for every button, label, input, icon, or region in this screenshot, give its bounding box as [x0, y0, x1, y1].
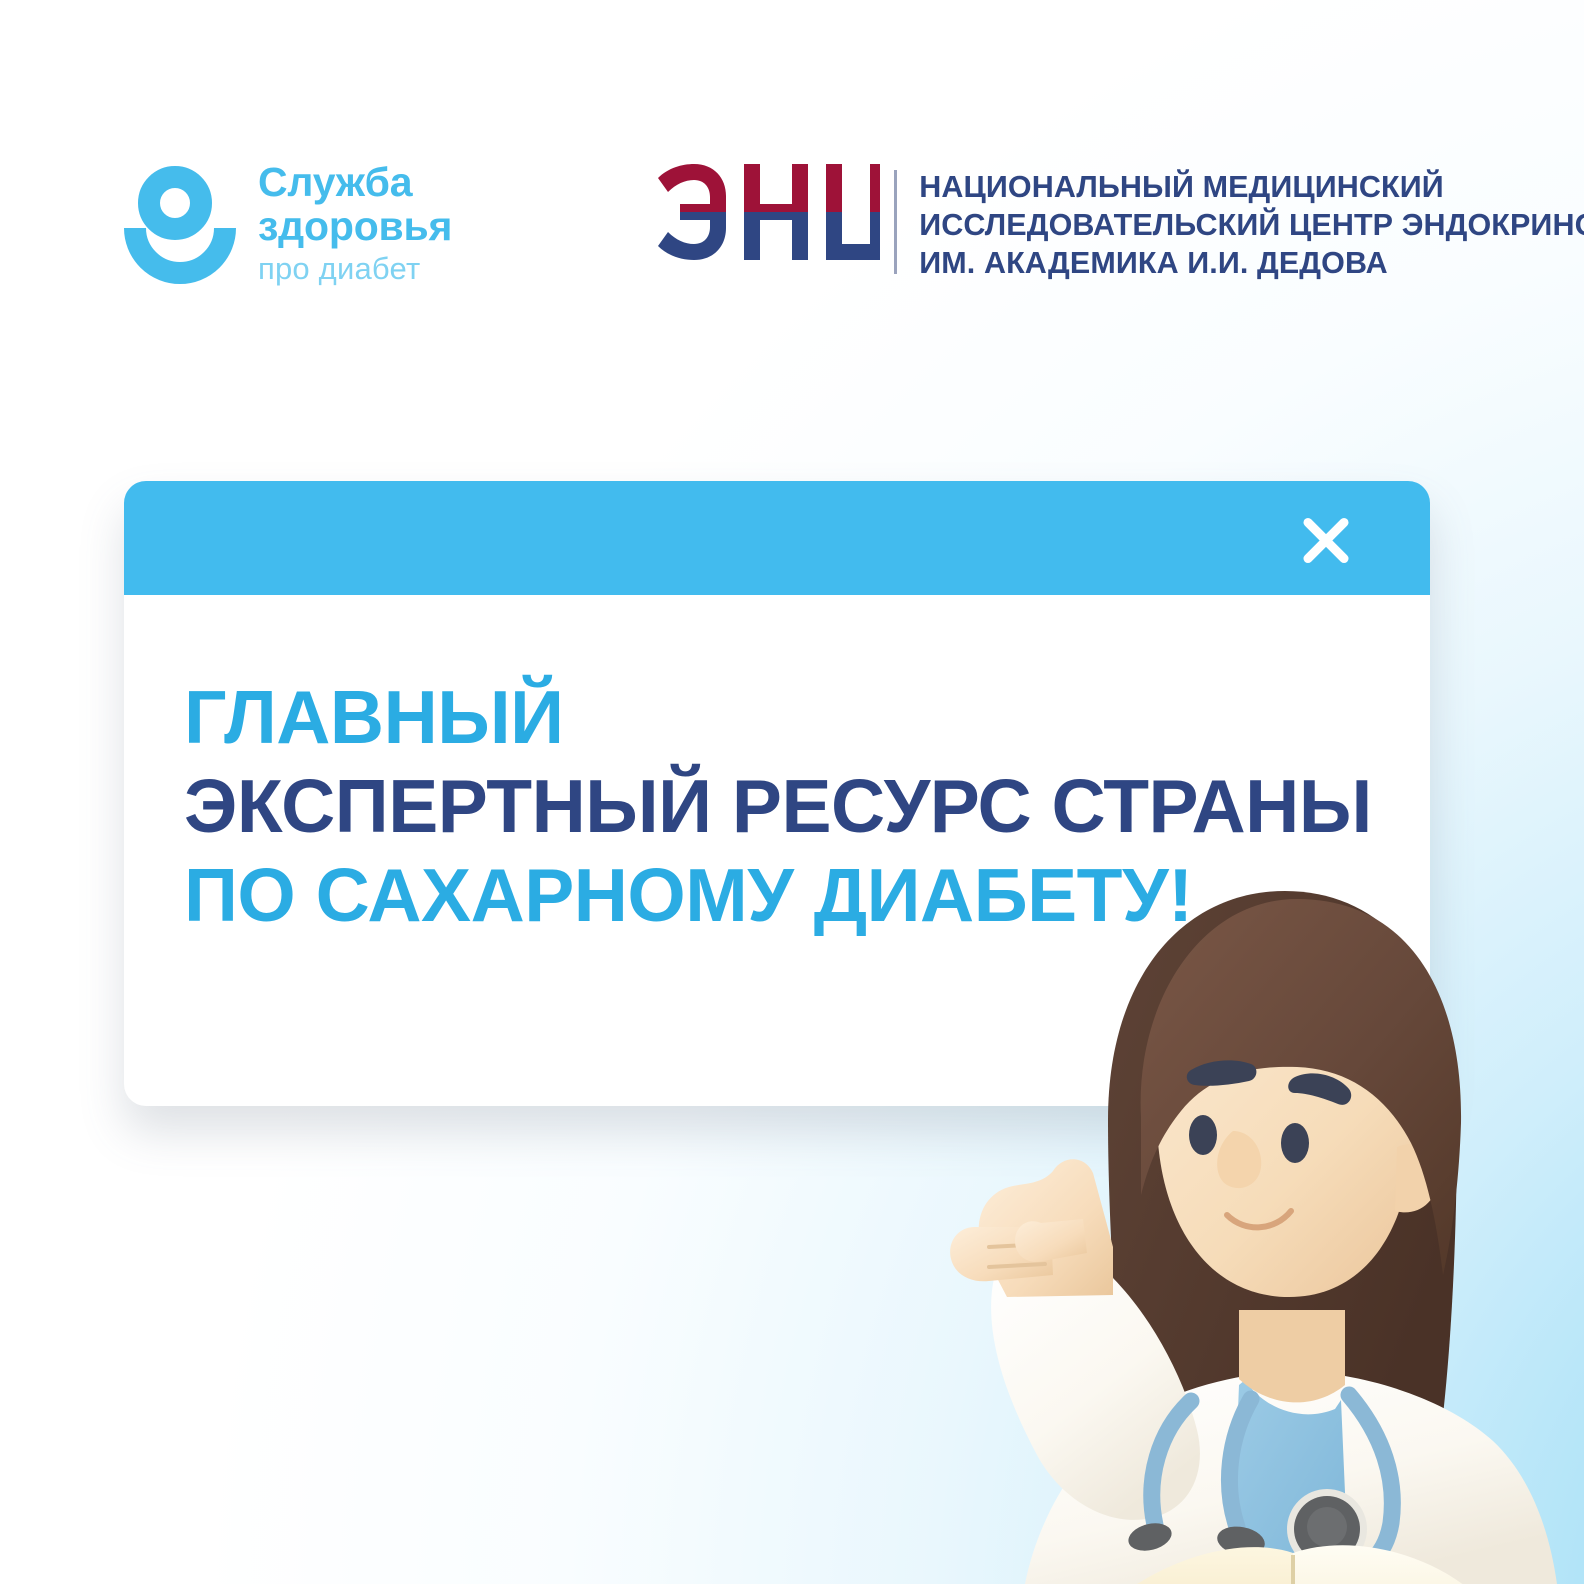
headline-line2: ЭКСПЕРТНЫЙ РЕСУРС СТРАНЫ: [184, 762, 1360, 851]
smile-arc-shape: [124, 228, 236, 284]
eye-right: [1281, 1123, 1309, 1163]
coat-sleeve-left: [991, 1254, 1200, 1520]
card-body: ГЛАВНЫЙ ЭКСПЕРТНЫЙ РЕСУРС СТРАНЫ ПО САХА…: [124, 595, 1430, 1106]
eye-left: [1189, 1115, 1217, 1155]
ear: [1395, 1144, 1439, 1212]
health-service-logo: Служба здоровья про диабет: [124, 160, 452, 284]
enc-line2: ИССЛЕДОВАТЕЛЬСКИЙ ЦЕНТР ЭНДОКРИНОЛОГИИ: [919, 206, 1584, 244]
service-logo-line1: Служба: [258, 162, 452, 203]
poster-canvas: Служба здоровья про диабет: [0, 0, 1584, 1584]
enc-monogram-top-half: [658, 164, 880, 282]
card-header-bar: [124, 481, 1430, 595]
neck: [1239, 1310, 1345, 1402]
stethoscope-chestpiece: [1287, 1489, 1367, 1569]
health-service-ring-smile-mark-icon: [124, 166, 236, 278]
enc-wordmark: НАЦИОНАЛЬНЫЙ МЕДИЦИНСКИЙ ИССЛЕДОВАТЕЛЬСК…: [919, 164, 1584, 282]
mouth: [1227, 1211, 1291, 1227]
enc-logo: НАЦИОНАЛЬНЫЙ МЕДИЦИНСКИЙ ИССЛЕДОВАТЕЛЬСК…: [652, 160, 1584, 284]
enc-line1: НАЦИОНАЛЬНЫЙ МЕДИЦИНСКИЙ: [919, 168, 1584, 206]
stethoscope-earpiece-right: [1215, 1523, 1267, 1559]
service-logo-line3: про диабет: [258, 253, 452, 284]
stethoscope-earpiece-left: [1126, 1519, 1175, 1555]
service-logo-line2: здоровья: [258, 206, 452, 247]
message-card: ГЛАВНЫЙ ЭКСПЕРТНЫЙ РЕСУРС СТРАНЫ ПО САХА…: [124, 481, 1430, 1106]
scrubs-top: [1231, 1380, 1349, 1584]
enc-monogram-bottom-half: [658, 164, 880, 282]
page-title: ГЛАВНЫЙ ЭКСПЕРТНЫЙ РЕСУРС СТРАНЫ ПО САХА…: [184, 673, 1360, 940]
enc-monogram-icon: [652, 164, 880, 282]
health-service-wordmark: Служба здоровья про диабет: [258, 160, 452, 284]
open-book: [1121, 1545, 1469, 1584]
nose: [1217, 1131, 1261, 1188]
enc-line3: ИМ. АКАДЕМИКА И.И. ДЕДОВА: [919, 244, 1584, 282]
pointing-hand-icon: [950, 1159, 1113, 1297]
logo-bar: Служба здоровья про диабет: [124, 160, 1584, 284]
stethoscope-icon: [1152, 1395, 1393, 1574]
logo-divider: [894, 170, 897, 274]
headline-line1: ГЛАВНЫЙ: [184, 673, 1360, 762]
close-icon[interactable]: [1290, 503, 1362, 575]
lab-coat: [1025, 1376, 1557, 1584]
headline-line3: ПО САХАРНОМУ ДИАБЕТУ!: [184, 851, 1360, 940]
